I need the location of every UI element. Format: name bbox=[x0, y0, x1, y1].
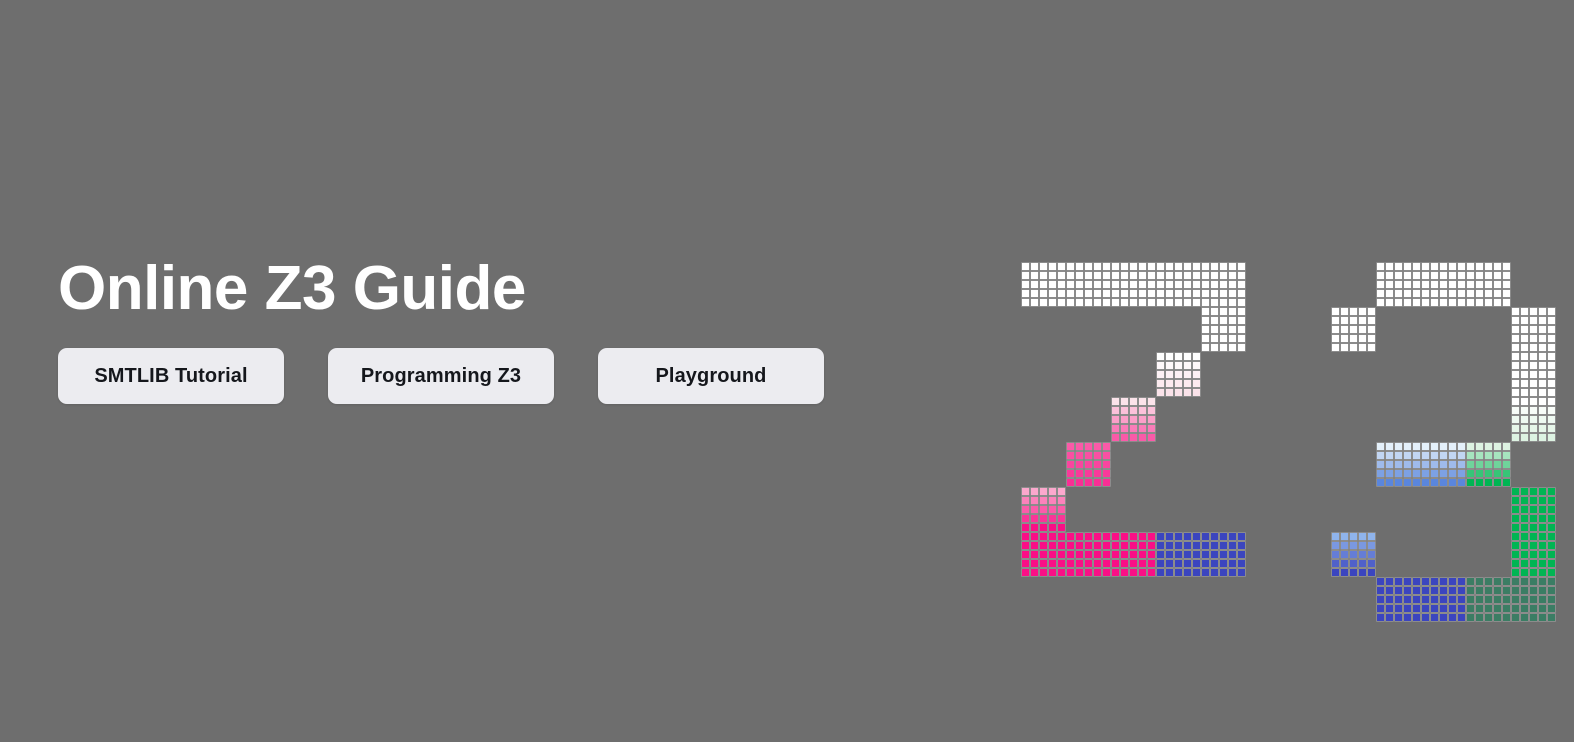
logo-cell bbox=[1174, 271, 1183, 280]
logo-cell bbox=[1084, 451, 1093, 460]
logo-cell bbox=[1547, 514, 1556, 523]
logo-cell bbox=[1520, 343, 1529, 352]
logo-cell bbox=[1511, 613, 1520, 622]
logo-cell bbox=[1228, 271, 1237, 280]
logo-cell bbox=[1493, 595, 1502, 604]
logo-cell bbox=[1084, 271, 1093, 280]
logo-cell bbox=[1529, 586, 1538, 595]
logo-cell bbox=[1484, 613, 1493, 622]
logo-cell bbox=[1057, 550, 1066, 559]
logo-cell bbox=[1030, 271, 1039, 280]
logo-cell bbox=[1430, 271, 1439, 280]
logo-cell bbox=[1165, 379, 1174, 388]
logo-cell bbox=[1174, 280, 1183, 289]
logo-cell bbox=[1156, 271, 1165, 280]
logo-cell bbox=[1192, 568, 1201, 577]
logo-cell bbox=[1201, 307, 1210, 316]
logo-cell bbox=[1349, 307, 1358, 316]
logo-block bbox=[1111, 397, 1156, 442]
logo-cell bbox=[1412, 289, 1421, 298]
logo-cell bbox=[1394, 613, 1403, 622]
logo-cell bbox=[1529, 406, 1538, 415]
logo-cell bbox=[1547, 370, 1556, 379]
logo-cell bbox=[1048, 514, 1057, 523]
logo-cell bbox=[1421, 586, 1430, 595]
logo-cell bbox=[1475, 577, 1484, 586]
logo-cell bbox=[1084, 550, 1093, 559]
logo-cell bbox=[1165, 361, 1174, 370]
logo-cell bbox=[1547, 487, 1556, 496]
logo-cell bbox=[1120, 280, 1129, 289]
logo-cell bbox=[1147, 406, 1156, 415]
logo-cell bbox=[1084, 289, 1093, 298]
logo-cell bbox=[1228, 343, 1237, 352]
logo-cell bbox=[1529, 388, 1538, 397]
logo-cell bbox=[1165, 271, 1174, 280]
logo-cell bbox=[1538, 397, 1547, 406]
logo-cell bbox=[1385, 577, 1394, 586]
logo-cell bbox=[1210, 532, 1219, 541]
logo-cell bbox=[1066, 271, 1075, 280]
logo-cell bbox=[1021, 559, 1030, 568]
logo-cell bbox=[1201, 298, 1210, 307]
logo-cell bbox=[1547, 550, 1556, 559]
logo-cell bbox=[1219, 280, 1228, 289]
logo-cell bbox=[1201, 325, 1210, 334]
logo-cell bbox=[1039, 487, 1048, 496]
logo-cell bbox=[1520, 577, 1529, 586]
logo-cell bbox=[1120, 415, 1129, 424]
hero-section: Online Z3 Guide SMTLIB Tutorial Programm… bbox=[0, 0, 1574, 742]
logo-cell bbox=[1066, 541, 1075, 550]
logo-cell bbox=[1376, 460, 1385, 469]
logo-cell bbox=[1165, 352, 1174, 361]
logo-cell bbox=[1385, 460, 1394, 469]
logo-cell bbox=[1111, 415, 1120, 424]
logo-cell bbox=[1093, 460, 1102, 469]
logo-cell bbox=[1493, 271, 1502, 280]
logo-cell bbox=[1066, 442, 1075, 451]
logo-cell bbox=[1529, 541, 1538, 550]
logo-cell bbox=[1057, 559, 1066, 568]
logo-cell bbox=[1529, 379, 1538, 388]
logo-cell bbox=[1057, 262, 1066, 271]
logo-cell bbox=[1138, 397, 1147, 406]
logo-cell bbox=[1421, 280, 1430, 289]
logo-cell bbox=[1547, 316, 1556, 325]
logo-cell bbox=[1192, 370, 1201, 379]
logo-cell bbox=[1457, 289, 1466, 298]
logo-cell bbox=[1129, 532, 1138, 541]
logo-cell bbox=[1057, 298, 1066, 307]
logo-cell bbox=[1210, 334, 1219, 343]
logo-cell bbox=[1538, 487, 1547, 496]
logo-cell bbox=[1048, 298, 1057, 307]
logo-cell bbox=[1156, 289, 1165, 298]
logo-cell bbox=[1412, 271, 1421, 280]
logo-cell bbox=[1048, 496, 1057, 505]
logo-cell bbox=[1210, 307, 1219, 316]
logo-cell bbox=[1174, 370, 1183, 379]
logo-cell bbox=[1111, 262, 1120, 271]
logo-cell bbox=[1057, 271, 1066, 280]
logo-cell bbox=[1484, 451, 1493, 460]
logo-cell bbox=[1237, 343, 1246, 352]
logo-cell bbox=[1430, 262, 1439, 271]
logo-cell bbox=[1084, 541, 1093, 550]
logo-cell bbox=[1511, 505, 1520, 514]
logo-cell bbox=[1403, 469, 1412, 478]
logo-cell bbox=[1066, 460, 1075, 469]
logo-cell bbox=[1075, 280, 1084, 289]
logo-cell bbox=[1331, 307, 1340, 316]
logo-cell bbox=[1210, 325, 1219, 334]
logo-cell bbox=[1439, 289, 1448, 298]
logo-cell bbox=[1210, 559, 1219, 568]
logo-cell bbox=[1331, 316, 1340, 325]
logo-cell bbox=[1021, 532, 1030, 541]
logo-cell bbox=[1093, 442, 1102, 451]
logo-cell bbox=[1475, 460, 1484, 469]
logo-cell bbox=[1093, 298, 1102, 307]
logo-cell bbox=[1538, 559, 1547, 568]
logo-cell bbox=[1547, 496, 1556, 505]
logo-cell bbox=[1466, 451, 1475, 460]
logo-cell bbox=[1102, 298, 1111, 307]
logo-cell bbox=[1376, 271, 1385, 280]
logo-cell bbox=[1493, 442, 1502, 451]
logo-cell bbox=[1538, 325, 1547, 334]
logo-cell bbox=[1511, 532, 1520, 541]
logo-cell bbox=[1385, 451, 1394, 460]
logo-cell bbox=[1183, 280, 1192, 289]
logo-cell bbox=[1039, 298, 1048, 307]
logo-cell bbox=[1219, 559, 1228, 568]
logo-cell bbox=[1129, 433, 1138, 442]
logo-cell bbox=[1448, 613, 1457, 622]
playground-button[interactable]: Playground bbox=[598, 348, 824, 404]
smtlib-tutorial-button[interactable]: SMTLIB Tutorial bbox=[58, 348, 284, 404]
logo-cell bbox=[1529, 343, 1538, 352]
logo-cell bbox=[1538, 316, 1547, 325]
logo-cell bbox=[1201, 550, 1210, 559]
logo-cell bbox=[1475, 442, 1484, 451]
logo-cell bbox=[1156, 352, 1165, 361]
logo-cell bbox=[1376, 577, 1385, 586]
programming-z3-button[interactable]: Programming Z3 bbox=[328, 348, 554, 404]
logo-cell bbox=[1448, 280, 1457, 289]
logo-cell bbox=[1340, 316, 1349, 325]
logo-cell bbox=[1502, 262, 1511, 271]
logo-cell bbox=[1529, 334, 1538, 343]
logo-cell bbox=[1156, 262, 1165, 271]
logo-cell bbox=[1340, 307, 1349, 316]
logo-cell bbox=[1093, 559, 1102, 568]
logo-cell bbox=[1183, 550, 1192, 559]
logo-cell bbox=[1394, 460, 1403, 469]
logo-cell bbox=[1475, 289, 1484, 298]
logo-cell bbox=[1538, 415, 1547, 424]
logo-cell bbox=[1201, 568, 1210, 577]
logo-cell bbox=[1403, 478, 1412, 487]
logo-cell bbox=[1237, 532, 1246, 541]
logo-cell bbox=[1174, 379, 1183, 388]
logo-cell bbox=[1538, 496, 1547, 505]
logo-cell bbox=[1520, 523, 1529, 532]
logo-cell bbox=[1358, 307, 1367, 316]
logo-cell bbox=[1493, 613, 1502, 622]
logo-cell bbox=[1048, 289, 1057, 298]
logo-cell bbox=[1093, 550, 1102, 559]
logo-cell bbox=[1093, 271, 1102, 280]
logo-cell bbox=[1183, 271, 1192, 280]
logo-cell bbox=[1165, 289, 1174, 298]
logo-cell bbox=[1484, 262, 1493, 271]
logo-block bbox=[1021, 532, 1156, 577]
logo-cell bbox=[1412, 262, 1421, 271]
logo-cell bbox=[1394, 442, 1403, 451]
logo-cell bbox=[1156, 550, 1165, 559]
logo-cell bbox=[1129, 298, 1138, 307]
logo-cell bbox=[1520, 352, 1529, 361]
logo-cell bbox=[1219, 325, 1228, 334]
logo-cell bbox=[1156, 559, 1165, 568]
logo-cell bbox=[1529, 487, 1538, 496]
logo-cell bbox=[1493, 289, 1502, 298]
logo-cell bbox=[1102, 532, 1111, 541]
logo-cell bbox=[1066, 532, 1075, 541]
logo-cell bbox=[1210, 271, 1219, 280]
logo-cell bbox=[1547, 343, 1556, 352]
logo-cell bbox=[1385, 613, 1394, 622]
logo-cell bbox=[1111, 541, 1120, 550]
logo-cell bbox=[1075, 550, 1084, 559]
logo-cell bbox=[1057, 289, 1066, 298]
logo-cell bbox=[1066, 298, 1075, 307]
logo-cell bbox=[1403, 289, 1412, 298]
logo-cell bbox=[1237, 550, 1246, 559]
logo-cell bbox=[1520, 307, 1529, 316]
logo-cell bbox=[1138, 271, 1147, 280]
logo-cell bbox=[1511, 316, 1520, 325]
logo-cell bbox=[1466, 289, 1475, 298]
logo-cell bbox=[1120, 289, 1129, 298]
logo-block bbox=[1466, 442, 1511, 487]
logo-cell bbox=[1502, 586, 1511, 595]
logo-cell bbox=[1376, 613, 1385, 622]
logo-cell bbox=[1102, 271, 1111, 280]
logo-cell bbox=[1412, 595, 1421, 604]
logo-cell bbox=[1448, 586, 1457, 595]
logo-cell bbox=[1394, 289, 1403, 298]
logo-cell bbox=[1547, 415, 1556, 424]
logo-cell bbox=[1538, 532, 1547, 541]
logo-cell bbox=[1430, 604, 1439, 613]
logo-cell bbox=[1021, 568, 1030, 577]
logo-cell bbox=[1183, 370, 1192, 379]
logo-cell bbox=[1439, 613, 1448, 622]
logo-cell bbox=[1529, 316, 1538, 325]
logo-cell bbox=[1237, 541, 1246, 550]
logo-cell bbox=[1075, 298, 1084, 307]
logo-cell bbox=[1466, 442, 1475, 451]
logo-cell bbox=[1075, 442, 1084, 451]
logo-cell bbox=[1421, 604, 1430, 613]
logo-cell bbox=[1237, 559, 1246, 568]
logo-cell bbox=[1547, 379, 1556, 388]
logo-cell bbox=[1529, 577, 1538, 586]
logo-cell bbox=[1129, 262, 1138, 271]
logo-cell bbox=[1331, 550, 1340, 559]
logo-cell bbox=[1192, 388, 1201, 397]
logo-cell bbox=[1039, 568, 1048, 577]
logo-cell bbox=[1412, 478, 1421, 487]
logo-cell bbox=[1340, 541, 1349, 550]
logo-cell bbox=[1210, 298, 1219, 307]
logo-cell bbox=[1358, 568, 1367, 577]
logo-cell bbox=[1448, 460, 1457, 469]
logo-cell bbox=[1075, 541, 1084, 550]
logo-cell bbox=[1057, 568, 1066, 577]
logo-cell bbox=[1457, 613, 1466, 622]
logo-cell bbox=[1093, 262, 1102, 271]
logo-cell bbox=[1183, 361, 1192, 370]
logo-block bbox=[1376, 442, 1466, 487]
logo-cell bbox=[1165, 532, 1174, 541]
logo-cell bbox=[1174, 388, 1183, 397]
logo-cell bbox=[1138, 262, 1147, 271]
logo-cell bbox=[1021, 298, 1030, 307]
logo-cell bbox=[1475, 469, 1484, 478]
logo-cell bbox=[1430, 586, 1439, 595]
logo-cell bbox=[1138, 550, 1147, 559]
logo-cell bbox=[1066, 559, 1075, 568]
logo-cell bbox=[1448, 604, 1457, 613]
logo-cell bbox=[1192, 550, 1201, 559]
logo-cell bbox=[1376, 289, 1385, 298]
logo-cell bbox=[1349, 325, 1358, 334]
logo-cell bbox=[1183, 379, 1192, 388]
logo-cell bbox=[1511, 397, 1520, 406]
logo-cell bbox=[1520, 370, 1529, 379]
logo-cell bbox=[1466, 577, 1475, 586]
logo-cell bbox=[1538, 352, 1547, 361]
logo-cell bbox=[1493, 280, 1502, 289]
logo-cell bbox=[1511, 379, 1520, 388]
logo-cell bbox=[1520, 406, 1529, 415]
logo-cell bbox=[1030, 568, 1039, 577]
logo-cell bbox=[1547, 568, 1556, 577]
logo-cell bbox=[1421, 262, 1430, 271]
logo-cell bbox=[1448, 442, 1457, 451]
logo-cell bbox=[1439, 595, 1448, 604]
logo-cell bbox=[1165, 262, 1174, 271]
logo-cell bbox=[1156, 361, 1165, 370]
logo-block bbox=[1376, 577, 1466, 622]
logo-cell bbox=[1358, 532, 1367, 541]
logo-cell bbox=[1237, 307, 1246, 316]
logo-cell bbox=[1511, 370, 1520, 379]
logo-cell bbox=[1093, 451, 1102, 460]
logo-cell bbox=[1421, 478, 1430, 487]
logo-cell bbox=[1367, 550, 1376, 559]
logo-cell bbox=[1102, 559, 1111, 568]
logo-cell bbox=[1039, 514, 1048, 523]
logo-cell bbox=[1394, 469, 1403, 478]
logo-cell bbox=[1349, 541, 1358, 550]
logo-cell bbox=[1084, 442, 1093, 451]
logo-cell bbox=[1066, 550, 1075, 559]
logo-cell bbox=[1520, 388, 1529, 397]
logo-cell bbox=[1439, 262, 1448, 271]
logo-cell bbox=[1183, 559, 1192, 568]
logo-cell bbox=[1475, 451, 1484, 460]
logo-cell bbox=[1075, 451, 1084, 460]
logo-cell bbox=[1048, 487, 1057, 496]
logo-cell bbox=[1430, 289, 1439, 298]
logo-cell bbox=[1075, 289, 1084, 298]
logo-cell bbox=[1084, 532, 1093, 541]
logo-cell bbox=[1466, 280, 1475, 289]
logo-cell bbox=[1367, 532, 1376, 541]
logo-cell bbox=[1520, 550, 1529, 559]
logo-cell bbox=[1421, 469, 1430, 478]
logo-cell bbox=[1394, 604, 1403, 613]
logo-cell bbox=[1520, 334, 1529, 343]
logo-cell bbox=[1457, 271, 1466, 280]
logo-cell bbox=[1039, 289, 1048, 298]
logo-cell bbox=[1111, 271, 1120, 280]
logo-cell bbox=[1448, 262, 1457, 271]
logo-cell bbox=[1340, 325, 1349, 334]
logo-cell bbox=[1219, 262, 1228, 271]
logo-cell bbox=[1529, 559, 1538, 568]
logo-cell bbox=[1331, 559, 1340, 568]
logo-cell bbox=[1529, 370, 1538, 379]
logo-cell bbox=[1030, 523, 1039, 532]
logo-cell bbox=[1520, 316, 1529, 325]
logo-cell bbox=[1093, 289, 1102, 298]
logo-cell bbox=[1075, 262, 1084, 271]
logo-cell bbox=[1385, 478, 1394, 487]
logo-cell bbox=[1493, 586, 1502, 595]
logo-cell bbox=[1367, 568, 1376, 577]
logo-cell bbox=[1511, 433, 1520, 442]
logo-cell bbox=[1475, 298, 1484, 307]
logo-cell bbox=[1102, 469, 1111, 478]
logo-cell bbox=[1448, 577, 1457, 586]
logo-cell bbox=[1421, 442, 1430, 451]
logo-cell bbox=[1529, 397, 1538, 406]
logo-cell bbox=[1102, 541, 1111, 550]
logo-cell bbox=[1430, 478, 1439, 487]
logo-cell bbox=[1183, 388, 1192, 397]
logo-cell bbox=[1547, 559, 1556, 568]
logo-cell bbox=[1439, 442, 1448, 451]
logo-cell bbox=[1156, 370, 1165, 379]
page-title: Online Z3 Guide bbox=[58, 258, 958, 320]
logo-cell bbox=[1529, 595, 1538, 604]
logo-cell bbox=[1219, 532, 1228, 541]
logo-cell bbox=[1030, 550, 1039, 559]
logo-cell bbox=[1520, 613, 1529, 622]
logo-cell bbox=[1466, 586, 1475, 595]
logo-cell bbox=[1174, 298, 1183, 307]
logo-cell bbox=[1111, 433, 1120, 442]
logo-cell bbox=[1192, 280, 1201, 289]
logo-cell bbox=[1349, 559, 1358, 568]
logo-cell bbox=[1201, 343, 1210, 352]
